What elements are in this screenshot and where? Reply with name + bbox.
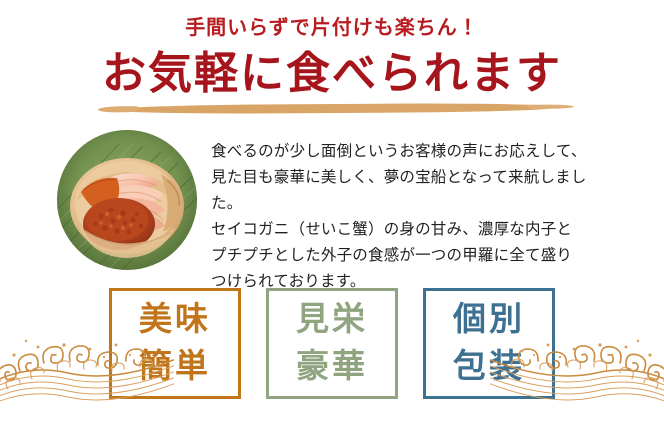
feature-line-1: 見栄 — [296, 297, 368, 344]
product-photo — [57, 130, 197, 270]
feature-line-2: 簡単 — [139, 344, 211, 391]
page-title: お気軽に食べられます — [0, 46, 664, 101]
subheadline: 手間いらずで片付けも楽ちん！ — [0, 16, 664, 40]
feature-box-individual-packaging: 個別 包装 — [423, 288, 555, 399]
brush-stroke-underline — [112, 103, 552, 115]
feature-line-1: 美味 — [139, 297, 211, 344]
feature-box-row: 美味 簡単 見栄 豪華 個別 包装 — [0, 288, 664, 403]
feature-box-delicious-easy: 美味 簡単 — [109, 288, 241, 399]
feature-line-2: 包装 — [453, 344, 525, 391]
description-line-3: セイコガニ（せいこ蟹）の身の甘み、濃厚な内子と — [211, 217, 617, 243]
feature-line-1: 個別 — [453, 297, 525, 344]
crab-dish-illustration — [57, 130, 197, 270]
description-line-1: 食べるのが少し面倒というお客様の声にお応えして、 — [211, 139, 617, 165]
description-line-4: プチプチとした外子の食感が一つの甲羅に全て盛り — [211, 243, 617, 269]
feature-box-showy-luxurious: 見栄 豪華 — [266, 288, 398, 399]
promo-banner: 手間いらずで片付けも楽ちん！ お気軽に食べられます — [0, 0, 664, 443]
feature-line-2: 豪華 — [296, 344, 368, 391]
description-line-2: 見た目も豪華に美しく、夢の宝船となって来航しました。 — [211, 165, 617, 217]
description-text: 食べるのが少し面倒というお客様の声にお応えして、 見た目も豪華に美しく、夢の宝船… — [211, 139, 617, 295]
